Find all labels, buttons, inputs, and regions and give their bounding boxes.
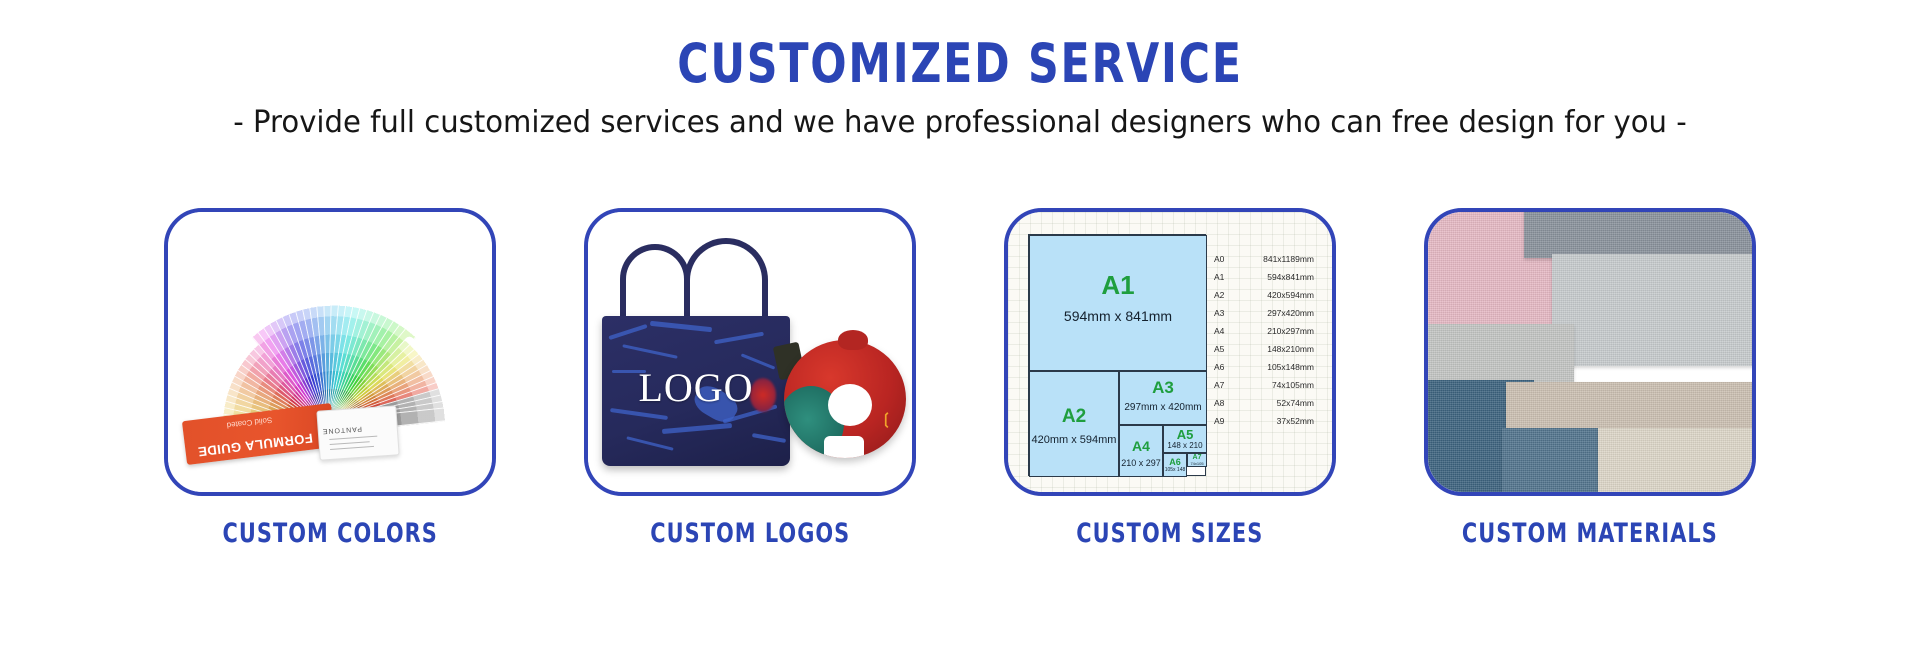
paper-box-a2: A2 420mm x 594mm: [1029, 371, 1119, 477]
paper-box-a3: A3 297mm x 420mm: [1119, 371, 1207, 425]
paper-size-name: A9: [1214, 416, 1234, 426]
paper-size-name: A3: [1214, 308, 1234, 318]
bag-doodle: [608, 324, 647, 340]
paper-box-dim: 148 x 210: [1164, 441, 1206, 450]
paper-box-name: A2: [1030, 406, 1118, 428]
service-card-row: Solid Coated FORMULA GUIDE PANTONE: [0, 208, 1920, 508]
banner-header: CUSTOMIZED SERVICE - Provide full custom…: [0, 36, 1920, 141]
paper-size-row: A5148x210mm: [1214, 344, 1322, 354]
a-series-diagram: A1 594mm x 841mm A2 420mm x 594mm A3 297…: [1028, 234, 1206, 476]
card-custom-materials[interactable]: [1424, 208, 1756, 496]
paper-size-name: A2: [1214, 290, 1234, 300]
bag-logo-text: LOGO: [602, 364, 790, 411]
card-label-custom-sizes: CUSTOM SIZES: [1076, 518, 1263, 549]
fabric-swatch-steelblue: [1502, 428, 1612, 492]
label-cell-custom-materials: CUSTOM MATERIALS: [1424, 518, 1756, 578]
paper-box-name: A3: [1120, 378, 1206, 398]
pantone-cover-title: FORMULA GUIDE: [197, 431, 314, 460]
paper-size-row: A937x52mm: [1214, 416, 1322, 426]
paper-box-name: A4: [1120, 438, 1162, 454]
paper-box-a1: A1 594mm x 841mm: [1029, 235, 1207, 371]
label-cell-custom-sizes: CUSTOM SIZES: [1004, 518, 1336, 578]
bag-doodle: [650, 321, 712, 332]
paper-box-dim: 74x105: [1188, 461, 1206, 466]
tote-bag-body: LOGO: [602, 316, 790, 466]
paper-size-list: A0841x1189mmA1594x841mmA2420x594mmA3297x…: [1214, 254, 1322, 434]
paper-box-name: A7: [1188, 454, 1206, 461]
paper-size-illustration: A1 594mm x 841mm A2 420mm x 594mm A3 297…: [1008, 212, 1332, 492]
paper-box-a6: A6 105x 148: [1163, 453, 1187, 477]
label-cell-custom-colors: CUSTOM COLORS: [164, 518, 496, 578]
pantone-fan-illustration: Solid Coated FORMULA GUIDE PANTONE: [168, 212, 492, 492]
paper-box-dim: 297mm x 420mm: [1120, 402, 1206, 413]
paper-size-name: A5: [1214, 344, 1234, 354]
fabric-swatches-illustration: [1428, 212, 1752, 492]
pillow-opening: [824, 436, 864, 458]
customized-service-banner: CUSTOMIZED SERVICE - Provide full custom…: [0, 0, 1920, 649]
paper-box-dim: 210 x 297: [1120, 458, 1162, 468]
fabric-swatch-beige: [1506, 382, 1752, 434]
tag-line: [330, 441, 370, 445]
pillow-top-knot: [838, 330, 868, 350]
paper-size-name: A4: [1214, 326, 1234, 336]
card-label-custom-materials: CUSTOM MATERIALS: [1462, 518, 1718, 549]
page-subtitle: - Provide full customized services and w…: [29, 105, 1891, 141]
paper-box-a4: A4 210 x 297: [1119, 425, 1163, 477]
paper-size-value: 52x74mm: [1234, 398, 1322, 408]
paper-box-dim: 420mm x 594mm: [1030, 434, 1118, 446]
paper-size-value: 841x1189mm: [1234, 254, 1322, 264]
tag-line: [329, 436, 377, 440]
paper-size-row: A6105x148mm: [1214, 362, 1322, 372]
bag-doodle: [626, 436, 673, 451]
card-custom-colors[interactable]: Solid Coated FORMULA GUIDE PANTONE: [164, 208, 496, 496]
paper-box-a5: A5 148 x 210: [1163, 425, 1207, 453]
paper-size-row: A3297x420mm: [1214, 308, 1322, 318]
paper-size-row: A0841x1189mm: [1214, 254, 1322, 264]
pantone-cover: Solid Coated FORMULA GUIDE: [182, 403, 336, 465]
page-title: CUSTOMIZED SERVICE: [115, 36, 1805, 93]
paper-box-dim: 594mm x 841mm: [1030, 308, 1206, 324]
paper-size-value: 210x297mm: [1234, 326, 1322, 336]
paper-box-name: A5: [1164, 427, 1206, 442]
tag-line: [330, 446, 374, 450]
label-cell-custom-logos: CUSTOM LOGOS: [584, 518, 916, 578]
pantone-tag: PANTONE: [316, 405, 399, 460]
bag-doodle: [622, 344, 677, 359]
card-custom-sizes[interactable]: A1 594mm x 841mm A2 420mm x 594mm A3 297…: [1004, 208, 1336, 496]
neck-pillow: [784, 340, 906, 458]
paper-size-value: 297x420mm: [1234, 308, 1322, 318]
bag-handle-left: [620, 244, 690, 326]
bag-doodle: [752, 433, 786, 443]
paper-size-value: 105x148mm: [1234, 362, 1322, 372]
fabric-swatch-cream: [1598, 428, 1752, 492]
fabric-swatch-gray: [1428, 324, 1574, 386]
bag-doodle: [662, 423, 732, 434]
tote-bag-illustration: LOGO ❲: [588, 212, 912, 492]
paper-size-name: A8: [1214, 398, 1234, 408]
paper-box-a7: A7 74x105: [1187, 453, 1207, 467]
paper-size-row: A4210x297mm: [1214, 326, 1322, 336]
card-label-custom-colors: CUSTOM COLORS: [222, 518, 437, 549]
bag-handle-right: [684, 238, 768, 328]
pantone-cover-subtitle: Solid Coated: [226, 415, 273, 430]
card-image-custom-sizes: A1 594mm x 841mm A2 420mm x 594mm A3 297…: [1008, 212, 1332, 492]
bag-doodle: [714, 332, 764, 345]
paper-size-value: 148x210mm: [1234, 344, 1322, 354]
service-label-row: CUSTOM COLORS CUSTOM LOGOS CUSTOM SIZES …: [0, 518, 1920, 578]
paper-size-value: 37x52mm: [1234, 416, 1322, 426]
paper-size-row: A852x74mm: [1214, 398, 1322, 408]
paper-size-name: A1: [1214, 272, 1234, 282]
card-image-custom-logos: LOGO ❲: [588, 212, 912, 492]
paper-size-row: A2420x594mm: [1214, 290, 1322, 300]
paper-size-value: 594x841mm: [1234, 272, 1322, 282]
fabric-swatch-darkgray: [1524, 212, 1752, 258]
paper-box-name: A1: [1030, 270, 1206, 301]
paper-size-value: 420x594mm: [1234, 290, 1322, 300]
paper-size-row: A774x105mm: [1214, 380, 1322, 390]
pillow-center-hole: [828, 384, 872, 426]
paper-box-dim: 105x 148: [1164, 467, 1186, 473]
fabric-swatch-lightgray: [1552, 254, 1752, 366]
card-image-custom-materials: [1428, 212, 1752, 492]
paper-size-name: A6: [1214, 362, 1234, 372]
card-image-custom-colors: Solid Coated FORMULA GUIDE PANTONE: [168, 212, 492, 492]
pillow-zipper-pull-icon: ❲: [880, 410, 893, 428]
pantone-tag-brand: PANTONE: [322, 425, 363, 435]
paper-size-row: A1594x841mm: [1214, 272, 1322, 282]
card-label-custom-logos: CUSTOM LOGOS: [650, 518, 850, 549]
paper-size-value: 74x105mm: [1234, 380, 1322, 390]
paper-size-name: A7: [1214, 380, 1234, 390]
paper-size-name: A0: [1214, 254, 1234, 264]
paper-box-name: A6: [1164, 457, 1186, 467]
card-custom-logos[interactable]: LOGO ❲: [584, 208, 916, 496]
